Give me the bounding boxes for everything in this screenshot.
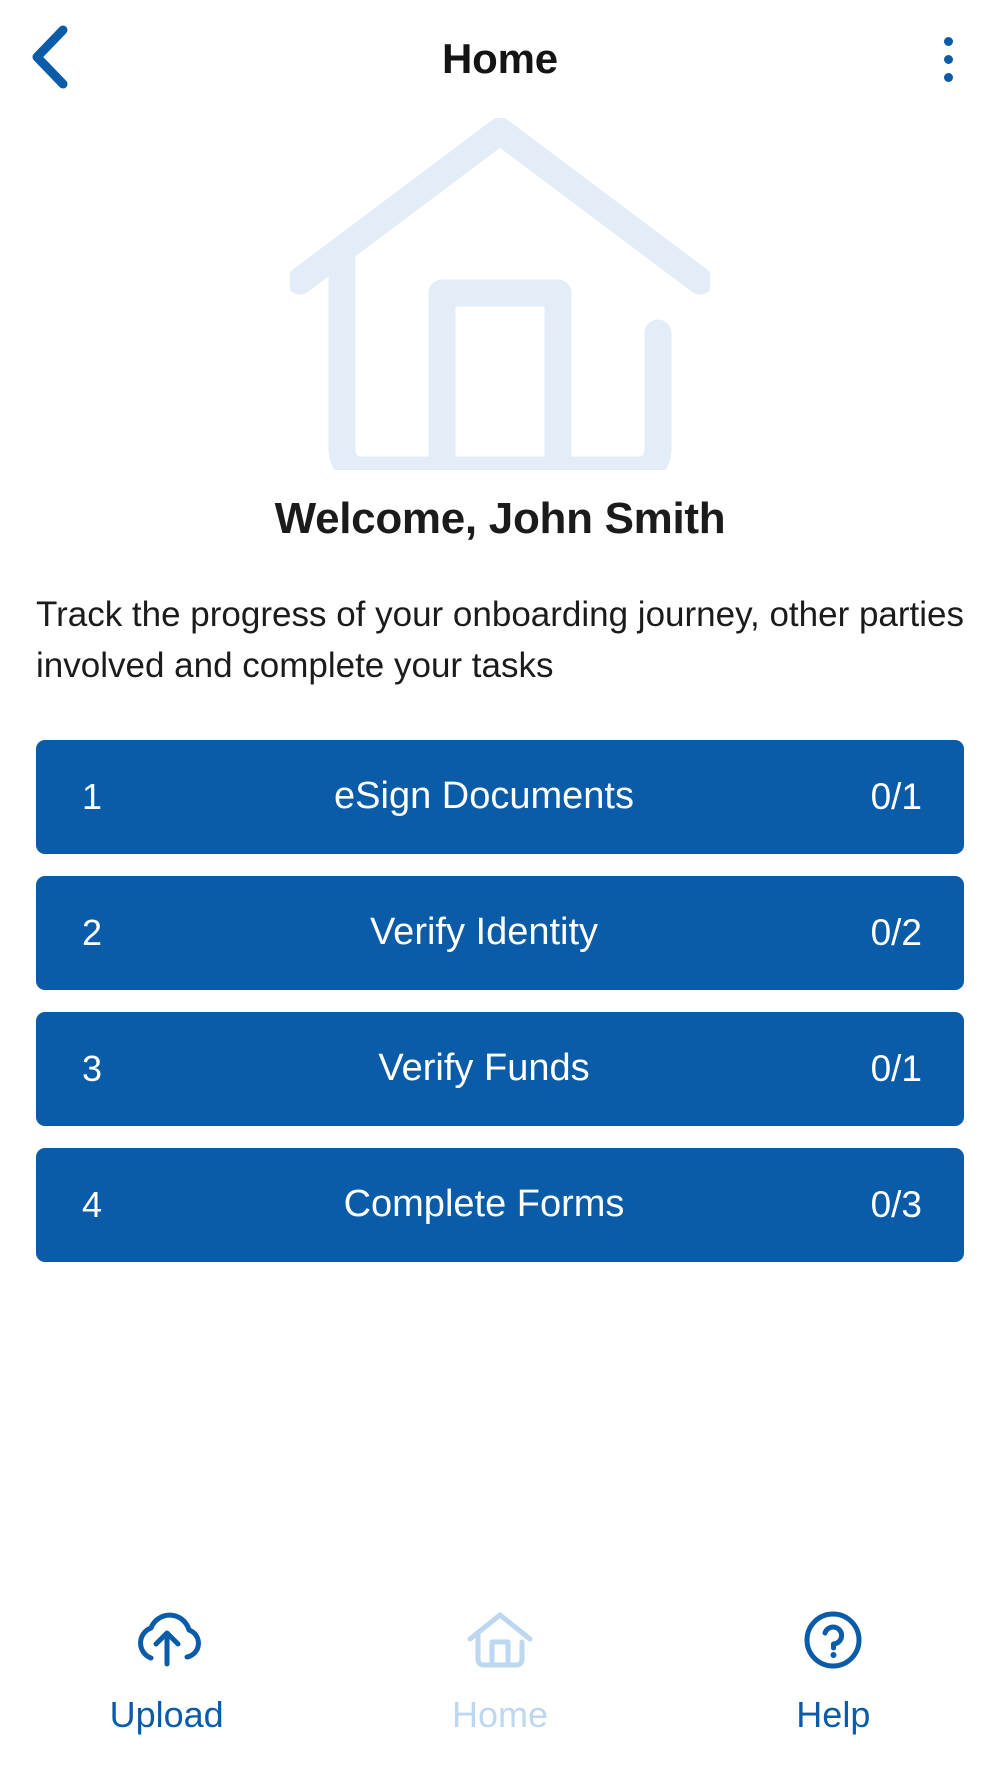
home-icon — [462, 1602, 538, 1678]
task-row-verify-funds[interactable]: 3 Verify Funds 0/1 — [36, 1012, 964, 1126]
more-vertical-icon-dot-2 — [944, 55, 953, 64]
more-vertical-icon-dot-3 — [944, 73, 953, 82]
task-progress-count: 0/3 — [871, 1184, 922, 1226]
nav-item-help[interactable]: Help — [667, 1602, 1000, 1736]
cloud-upload-icon — [129, 1602, 205, 1678]
task-progress-count: 0/1 — [871, 776, 922, 818]
chevron-left-icon — [27, 24, 73, 95]
overflow-menu-button[interactable] — [918, 21, 978, 97]
nav-label-home: Home — [452, 1694, 548, 1736]
task-row-esign-documents[interactable]: 1 eSign Documents 0/1 — [36, 740, 964, 854]
bottom-navigation-bar: Upload Home Help — [0, 1582, 1000, 1778]
hero-illustration — [0, 118, 1000, 470]
task-list: 1 eSign Documents 0/1 2 Verify Identity … — [36, 740, 964, 1262]
more-vertical-icon-dot-1 — [944, 37, 953, 46]
nav-label-upload: Upload — [110, 1694, 224, 1736]
task-label: Verify Identity — [36, 911, 964, 954]
task-row-verify-identity[interactable]: 2 Verify Identity 0/2 — [36, 876, 964, 990]
home-screen: Home Welcome, John Smith Track the progr… — [0, 0, 1000, 1778]
task-row-complete-forms[interactable]: 4 Complete Forms 0/3 — [36, 1148, 964, 1262]
task-label: Complete Forms — [36, 1183, 964, 1226]
task-progress-count: 0/1 — [871, 1048, 922, 1090]
task-progress-count: 0/2 — [871, 912, 922, 954]
task-label: Verify Funds — [36, 1047, 964, 1090]
page-title: Home — [442, 35, 558, 83]
content-spacer — [0, 1262, 1000, 1583]
house-outline-illustration-icon — [290, 118, 710, 470]
back-button[interactable] — [14, 23, 86, 95]
app-header: Home — [0, 0, 1000, 118]
nav-label-help: Help — [796, 1694, 870, 1736]
question-circle-icon — [795, 1602, 871, 1678]
task-label: eSign Documents — [36, 775, 964, 818]
nav-item-home[interactable]: Home — [333, 1602, 666, 1736]
nav-item-upload[interactable]: Upload — [0, 1602, 333, 1736]
description-text: Track the progress of your onboarding jo… — [36, 590, 964, 692]
welcome-heading: Welcome, John Smith — [0, 494, 1000, 544]
